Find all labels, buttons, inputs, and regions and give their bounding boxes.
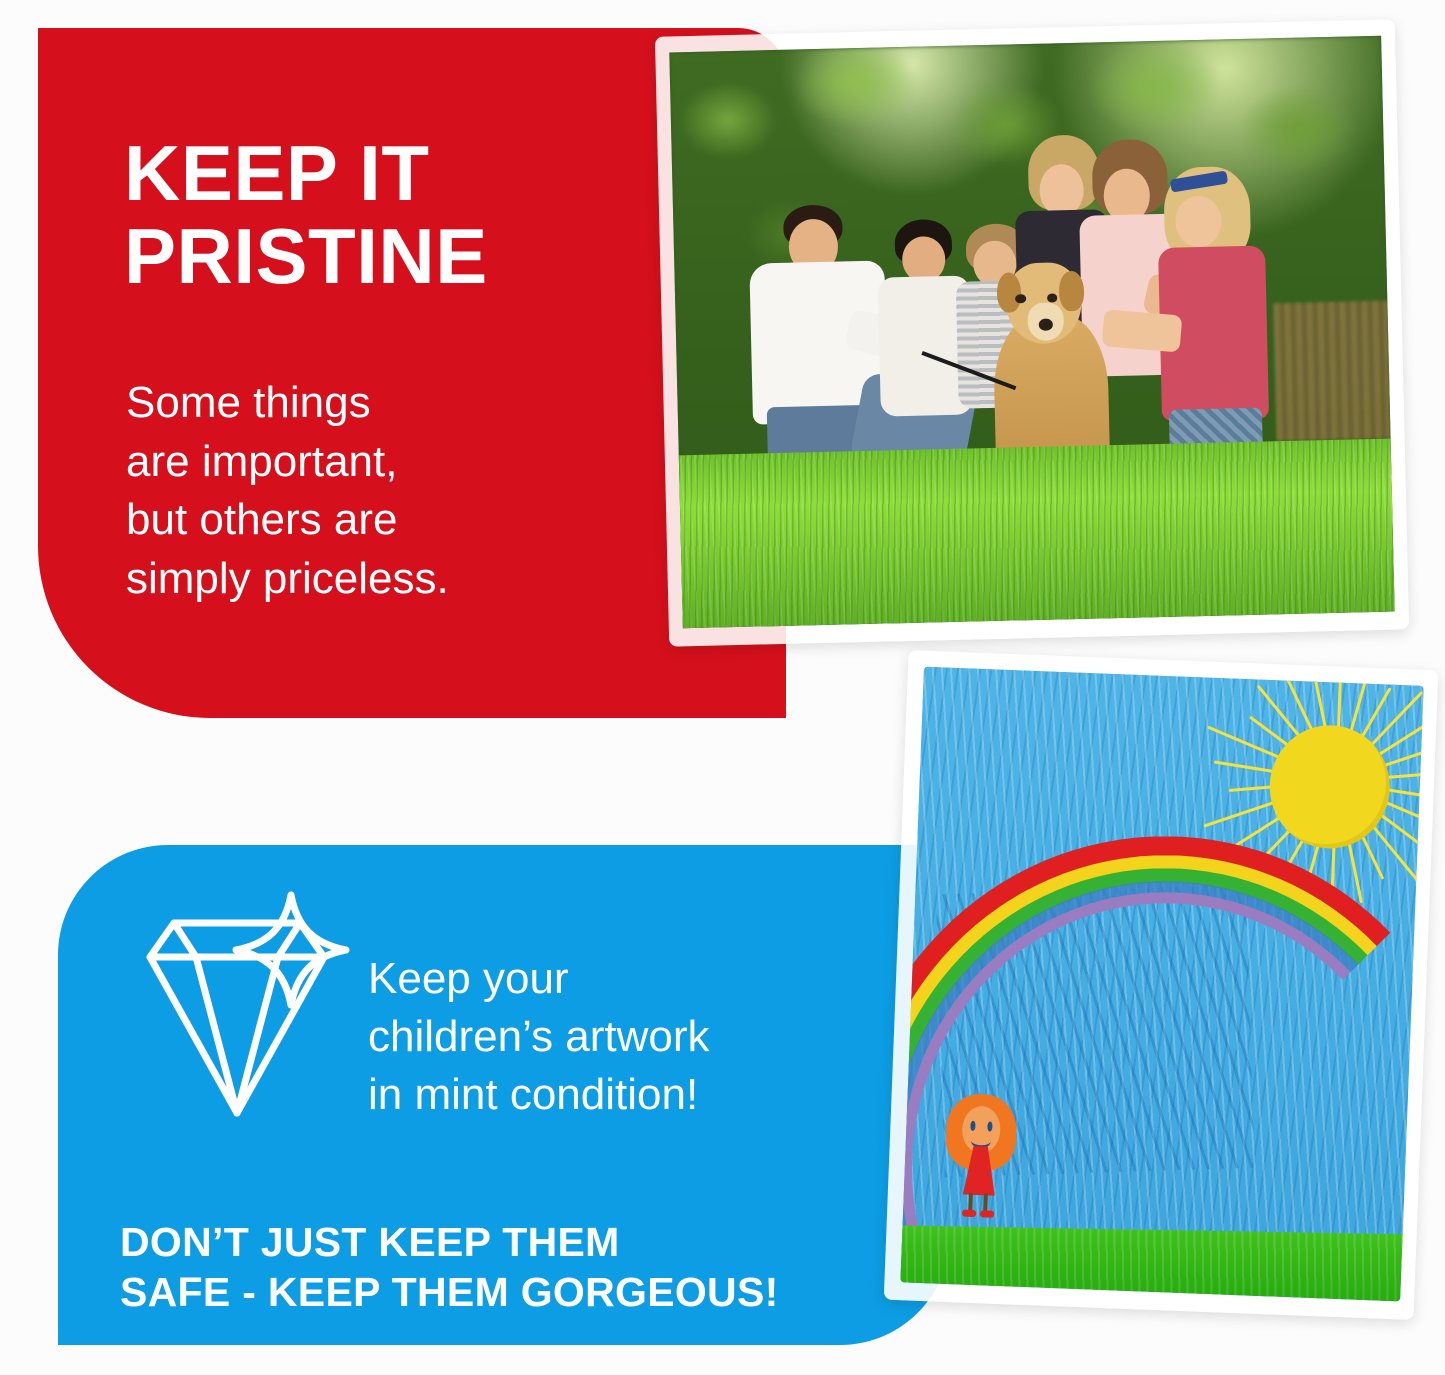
infographic-page: KEEP IT PRISTINE Some things are importa…	[0, 0, 1445, 1375]
diamond-sparkle-icon	[114, 887, 354, 1137]
family-photo-card	[655, 19, 1409, 646]
red-panel-body-text: Some things are important, but others ar…	[126, 374, 686, 608]
drawn-girl-eye-left	[970, 1121, 975, 1131]
dog-ear-right	[1059, 270, 1084, 311]
drawn-girl-figure	[938, 1093, 1023, 1219]
dog-eye-right	[1047, 293, 1058, 302]
family-photo-image	[669, 36, 1394, 629]
lawn-grass	[679, 439, 1395, 629]
drawn-girl-shoe-left	[962, 1209, 977, 1217]
page-title: KEEP IT PRISTINE	[124, 132, 684, 299]
teen-girl-head	[1039, 164, 1084, 217]
blue-panel-body-text: Keep your children’s artwork in mint con…	[368, 950, 888, 1124]
crayon-grass	[900, 1226, 1411, 1302]
blue-panel-kicker-text: DON’T JUST KEEP THEM SAFE - KEEP THEM GO…	[120, 1217, 920, 1317]
wooden-fence	[1273, 301, 1390, 442]
mint-condition-panel: Keep your children’s artwork in mint con…	[58, 845, 950, 1345]
young-girl-arm	[1102, 309, 1183, 353]
child-artwork-card	[884, 650, 1439, 1320]
drawn-girl-shoe-right	[980, 1210, 995, 1218]
dog-eye-left	[1015, 294, 1026, 303]
drawn-girl-smile	[971, 1132, 991, 1148]
child-artwork-image	[900, 667, 1423, 1302]
